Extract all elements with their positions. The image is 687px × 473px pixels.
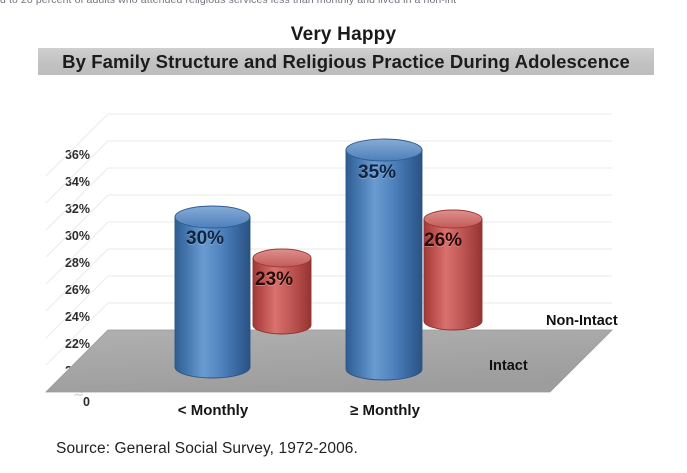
chart-subtitle-banner: By Family Structure and Religious Practi… [38,48,654,75]
data-label-nonintact-ge-monthly: 35% [358,162,396,184]
bar-intact-lt-monthly[interactable] [253,249,311,334]
category-label-ge-monthly: ≥ Monthly [290,402,480,419]
chart-canvas [0,80,687,425]
data-label-nonintact-lt-monthly: 30% [186,228,224,250]
series-label-intact: Intact [489,358,528,374]
source-note: Source: General Social Survey, 1972-2006… [56,440,358,458]
clipped-body-text: d to 20 percent of adults who attended r… [0,0,687,6]
data-label-intact-ge-monthly: 26% [424,230,462,252]
bar-intact-ge-monthly[interactable] [424,210,482,330]
chart-plot-area: 30% 23% 35% 26% [0,80,687,425]
data-label-intact-lt-monthly: 23% [255,269,293,291]
category-label-lt-monthly: < Monthly [118,402,308,419]
page-title: Very Happy [0,24,687,46]
series-label-non-intact: Non-Intact [546,313,618,329]
